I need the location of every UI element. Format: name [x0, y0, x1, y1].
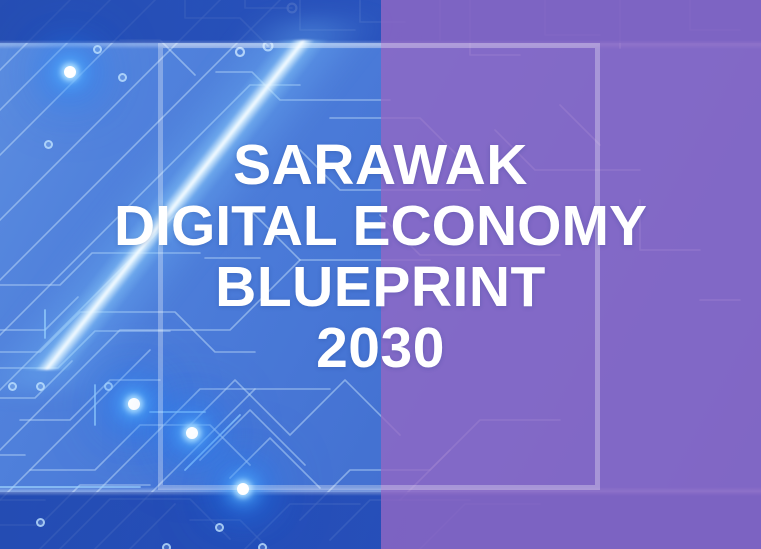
title-line-4-year: 2030: [0, 321, 761, 377]
ring-node-icon: [104, 382, 113, 391]
glow-node-icon: [128, 398, 140, 410]
ring-node-icon: [93, 45, 102, 54]
title-line-1: SARAWAK: [0, 138, 761, 194]
ring-node-icon: [36, 382, 45, 391]
glow-node-icon: [237, 483, 249, 495]
glow-node-icon: [186, 427, 198, 439]
ring-node-icon: [258, 543, 267, 549]
ring-node-icon: [118, 73, 127, 82]
poster-canvas: SARAWAK DIGITAL ECONOMY BLUEPRINT 2030: [0, 0, 761, 549]
ring-node-icon: [162, 543, 171, 549]
ring-node-icon: [8, 382, 17, 391]
poster-title: SARAWAK DIGITAL ECONOMY BLUEPRINT 2030: [0, 138, 761, 376]
ring-node-icon: [36, 518, 45, 527]
glow-node-icon: [64, 66, 76, 78]
title-line-3: BLUEPRINT: [0, 260, 761, 316]
ring-node-icon: [215, 523, 224, 532]
title-line-2: DIGITAL ECONOMY: [0, 199, 761, 255]
